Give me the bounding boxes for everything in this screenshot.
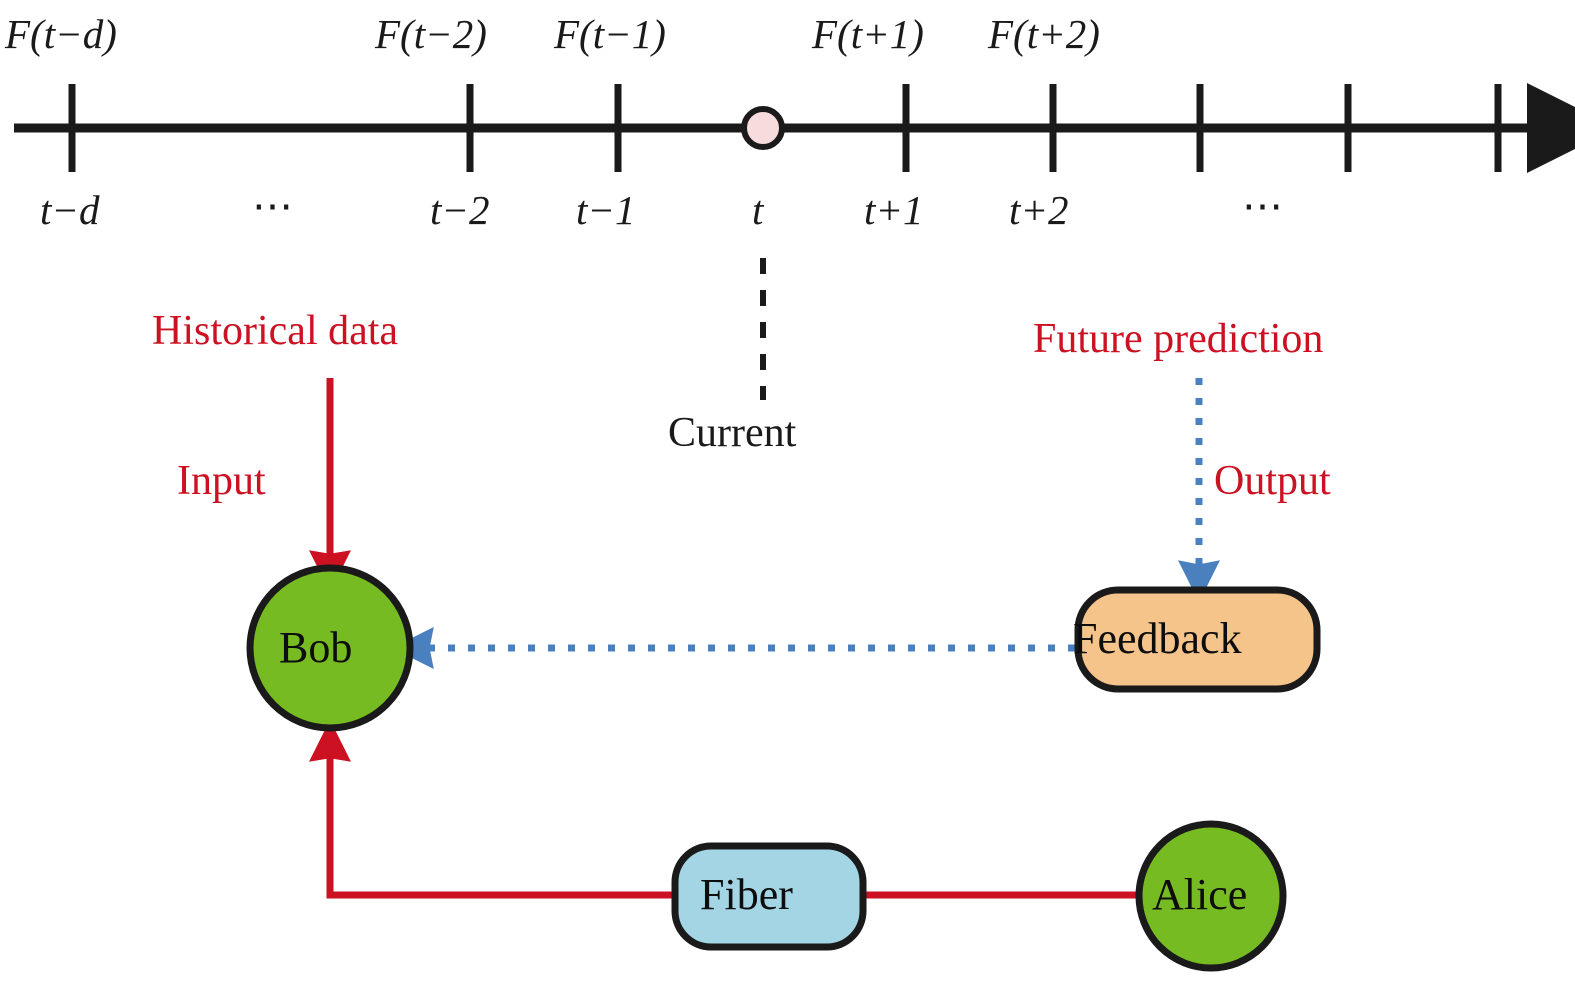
axis-label-F-t-minus-d: F(t−d) xyxy=(5,14,117,55)
axis-label-F-t-minus-2: F(t−2) xyxy=(375,14,487,55)
node-label-fiber: Fiber xyxy=(700,873,793,917)
node-label-alice: Alice xyxy=(1152,873,1247,917)
annotation-current: Current xyxy=(668,412,796,454)
current-time-marker xyxy=(744,109,782,147)
axis-tick-label-t-minus-d: t−d xyxy=(40,190,100,231)
annotation-future-prediction: Future prediction xyxy=(1033,318,1323,360)
axis-ellipsis-future: ⋯ xyxy=(1242,186,1286,227)
node-label-bob: Bob xyxy=(279,626,352,670)
edge-fiber-to-bob xyxy=(330,752,672,895)
axis-label-F-t-plus-2: F(t+2) xyxy=(988,14,1100,55)
axis-tick-label-t-plus-2: t+2 xyxy=(1009,190,1069,231)
node-label-feedback: Feedback xyxy=(1073,617,1242,661)
axis-label-F-t-minus-1: F(t−1) xyxy=(554,14,666,55)
axis-tick-label-t-minus-2: t−2 xyxy=(430,190,490,231)
annotation-historical-data: Historical data xyxy=(152,310,398,352)
axis-ellipsis-past: ⋯ xyxy=(252,186,296,227)
annotation-input: Input xyxy=(177,460,266,502)
axis-tick-label-t-minus-1: t−1 xyxy=(576,190,636,231)
axis-tick-label-t-plus-1: t+1 xyxy=(864,190,924,231)
figure-canvas: F(t−d) F(t−2) F(t−1) F(t+1) F(t+2) t−d ⋯… xyxy=(0,0,1575,993)
annotation-output: Output xyxy=(1214,460,1331,502)
axis-label-F-t-plus-1: F(t+1) xyxy=(812,14,924,55)
axis-tick-label-t: t xyxy=(752,190,763,231)
